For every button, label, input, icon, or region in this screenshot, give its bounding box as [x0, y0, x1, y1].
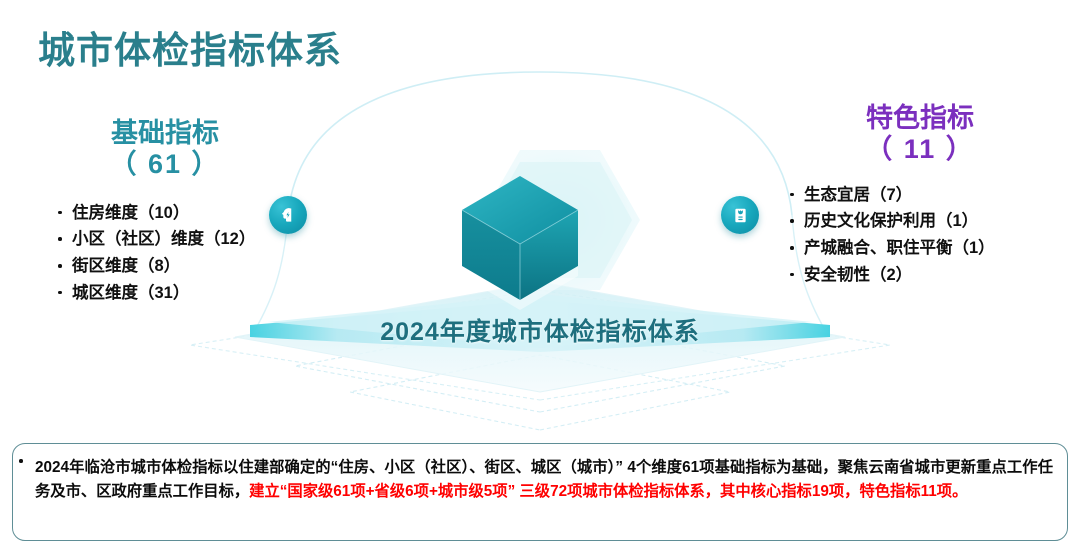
page-title: 城市体检指标体系 [38, 20, 342, 74]
list-item: 产城融合、职住平衡（1） [790, 235, 1070, 262]
basic-indicators-list: 住房维度（10） 小区（社区）维度（12） 街区维度（8） 城区维度（31） [20, 200, 310, 307]
summary-note-box: 2024年临沧市城市体检指标以住建部确定的“住房、小区（社区）、街区、城区（城市… [12, 443, 1068, 541]
list-item: 街区维度（8） [58, 253, 310, 280]
feature-indicators-panel: 特色指标 （ 11 ） 生态宜居（7） 历史文化保护利用（1） 产城融合、职住平… [770, 103, 1070, 289]
package-box-icon-badge [721, 196, 759, 234]
list-item: 历史文化保护利用（1） [790, 208, 1070, 235]
package-box-icon [731, 206, 750, 225]
basic-indicators-panel: 基础指标 （ 61 ） 住房维度（10） 小区（社区）维度（12） 街区维度（8… [20, 118, 310, 307]
feature-indicators-heading-text: 特色指标 [866, 103, 974, 133]
summary-note-text: 2024年临沧市城市体检指标以住建部确定的“住房、小区（社区）、街区、城区（城市… [35, 456, 1053, 503]
feature-indicators-list: 生态宜居（7） 历史文化保护利用（1） 产城融合、职住平衡（1） 安全韧性（2） [770, 182, 1070, 289]
basic-indicators-heading-text: 基础指标 [111, 118, 219, 148]
brain-head-icon-badge [269, 196, 307, 234]
note-bullet-icon [19, 459, 23, 463]
list-item: 小区（社区）维度（12） [58, 226, 310, 253]
center-system-label: 2024年度城市体检指标体系 [0, 312, 1080, 348]
list-item: 生态宜居（7） [790, 182, 1070, 209]
slide-canvas: 城市体检指标体系 基础指标 （ 61 ） 住房维度（10） 小区（社区）维度（1… [0, 0, 1080, 559]
feature-indicators-count: （ 11 ） [770, 134, 1070, 165]
basic-indicators-heading: 基础指标 （ 61 ） [20, 118, 310, 181]
note-segment-highlight: 建立“国家级61项+省级6项+城市级5项” 三级72项城市体检指标体系，其中核心… [249, 483, 967, 500]
feature-indicators-heading: 特色指标 （ 11 ） [770, 103, 1070, 166]
list-item: 安全韧性（2） [790, 262, 1070, 289]
list-item: 城区维度（31） [58, 280, 310, 307]
basic-indicators-count: （ 61 ） [20, 149, 310, 180]
brain-head-icon [278, 205, 298, 225]
